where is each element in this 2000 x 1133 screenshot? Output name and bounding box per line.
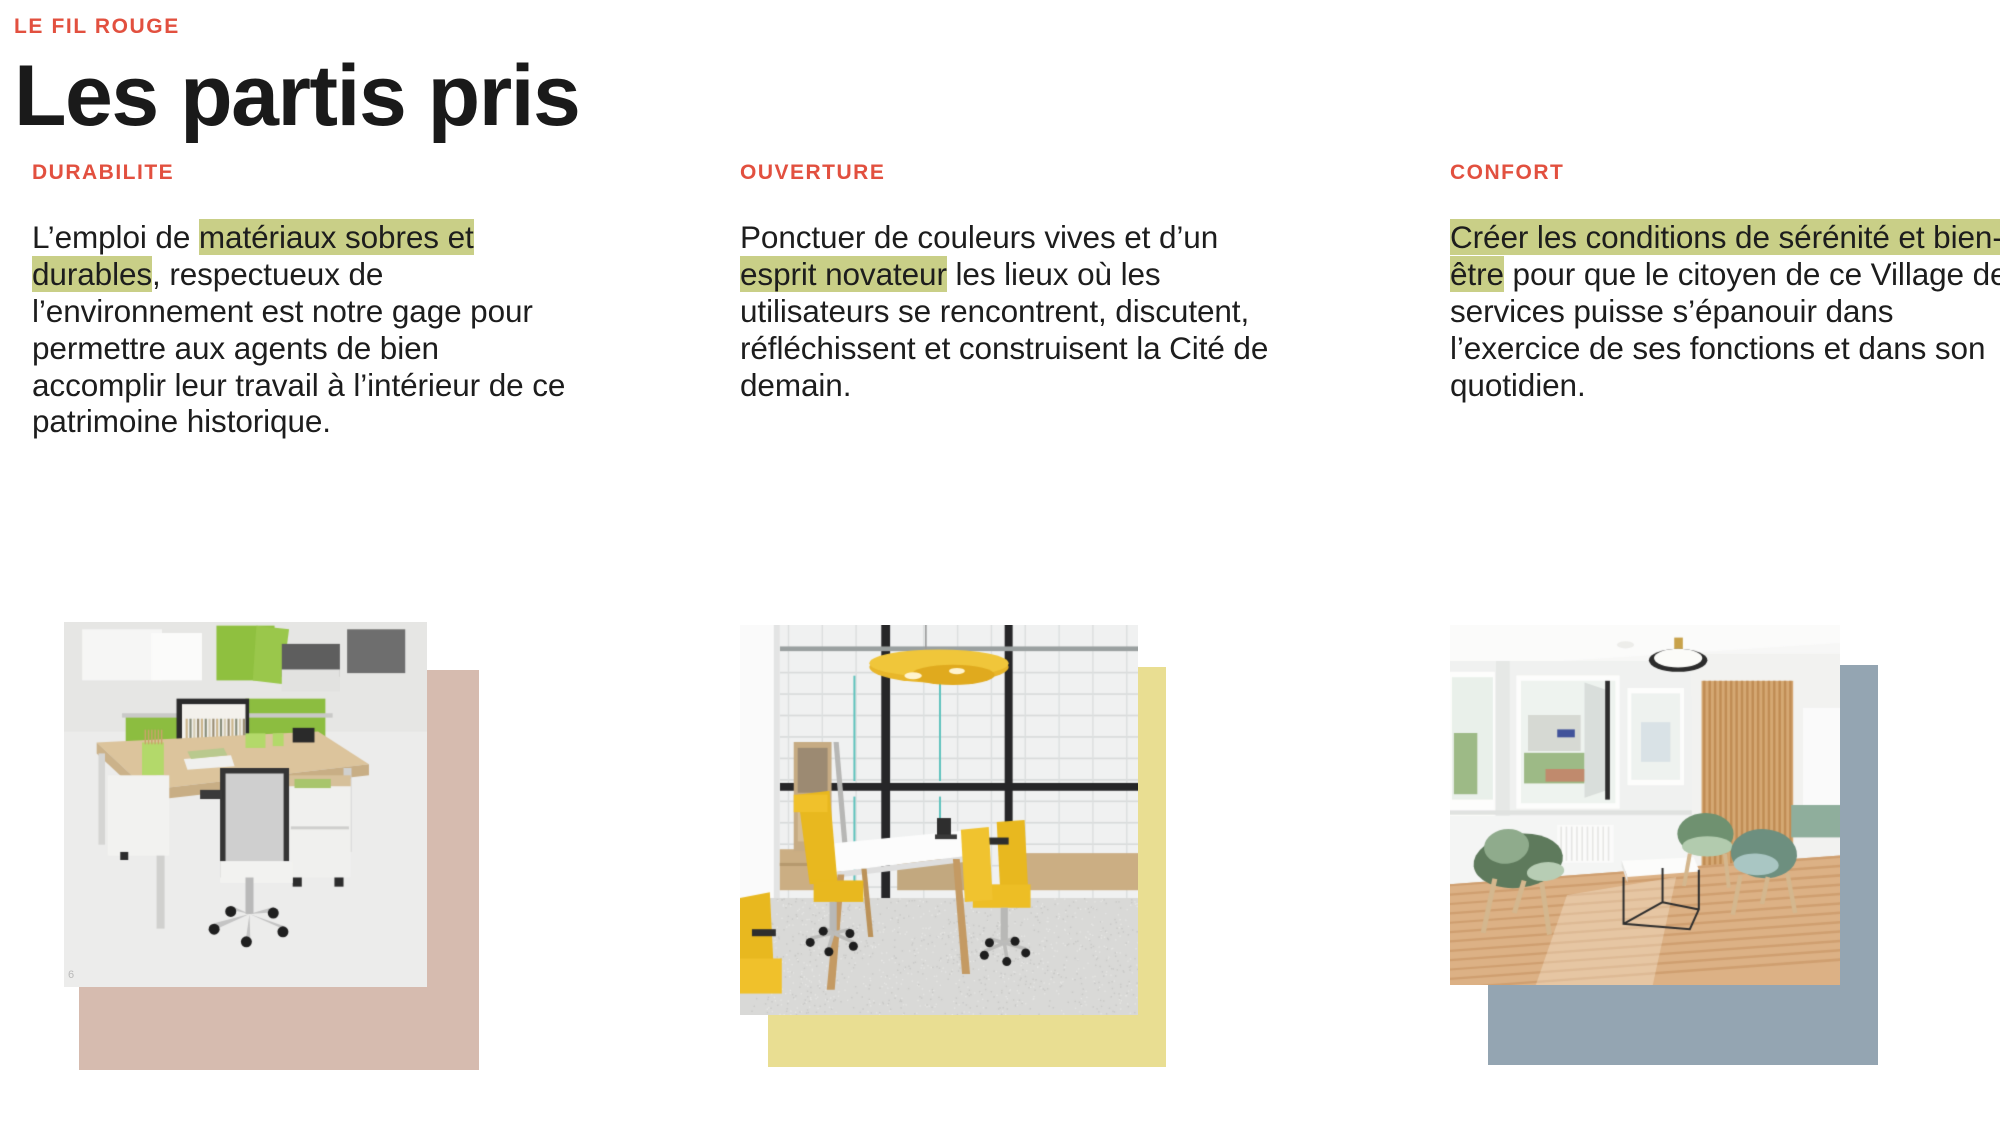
photo-lounge-area	[1450, 625, 1840, 985]
photo-block: 6	[32, 622, 472, 1042]
column-heading: DURABILITE	[32, 160, 592, 185]
photo-block	[740, 625, 1165, 1057]
column-heading: CONFORT	[1450, 160, 2000, 185]
photo-block	[1450, 625, 1870, 1055]
column-heading: OUVERTURE	[740, 160, 1300, 185]
column-body-text: Ponctuer de couleurs vives et d’un espri…	[740, 219, 1285, 403]
column-confort: CONFORT Créer les conditions de sérénité…	[1450, 160, 2000, 1133]
column-durabilite: DURABILITE L’emploi de matériaux sobres …	[32, 160, 592, 1133]
highlighted-phrase: matériaux sobres et durables	[32, 219, 474, 292]
column-body-text: Créer les conditions de sérénité et bien…	[1450, 219, 2000, 403]
column-body-text: L’emploi de matériaux sobres et durables…	[32, 219, 577, 440]
highlighted-phrase: esprit novateur	[740, 256, 947, 292]
column-ouverture: OUVERTURE Ponctuer de couleurs vives et …	[740, 160, 1300, 1133]
slide-header: LE FIL ROUGE Les partis pris	[14, 14, 914, 141]
columns-container: DURABILITE L’emploi de matériaux sobres …	[0, 160, 2000, 1133]
photo-meeting-room	[740, 625, 1138, 1015]
highlighted-phrase: Créer les conditions de sérénité et bien…	[1450, 219, 2000, 292]
photo-office-workstation	[64, 622, 427, 987]
page-number: 6	[68, 969, 74, 981]
eyebrow-label: LE FIL ROUGE	[14, 14, 914, 39]
page-title: Les partis pris	[14, 51, 914, 141]
